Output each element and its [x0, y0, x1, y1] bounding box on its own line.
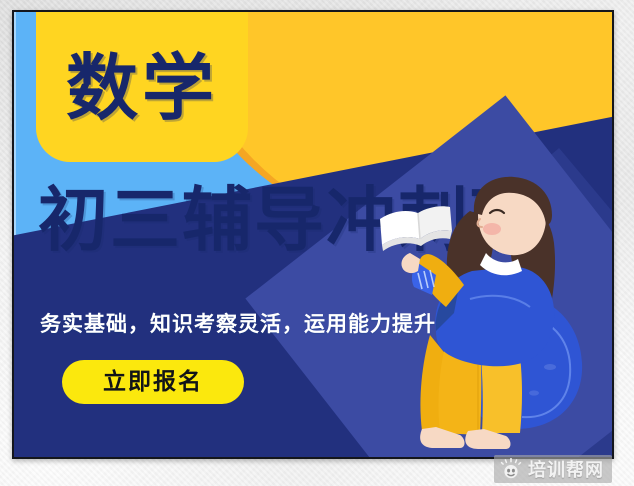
girl-reading-illustration — [374, 167, 604, 457]
poster-artwork: 数学 初三辅导冲刺班 务实基础，知识考察灵活，运用能力提升 立即报名 — [14, 12, 612, 457]
watermark-label: 培训帮网 — [528, 456, 604, 482]
poster-frame: 数学 初三辅导冲刺班 务实基础，知识考察灵活，运用能力提升 立即报名 — [12, 10, 614, 459]
page-canvas: 数学 初三辅导冲刺班 务实基础，知识考察灵活，运用能力提升 立即报名 — [0, 0, 634, 486]
sun-face-icon — [500, 458, 522, 480]
enroll-now-button[interactable]: 立即报名 — [62, 360, 244, 404]
subject-badge-label: 数学 — [66, 40, 218, 124]
subject-badge: 数学 — [36, 12, 248, 162]
watermark: 培训帮网 — [494, 455, 612, 483]
